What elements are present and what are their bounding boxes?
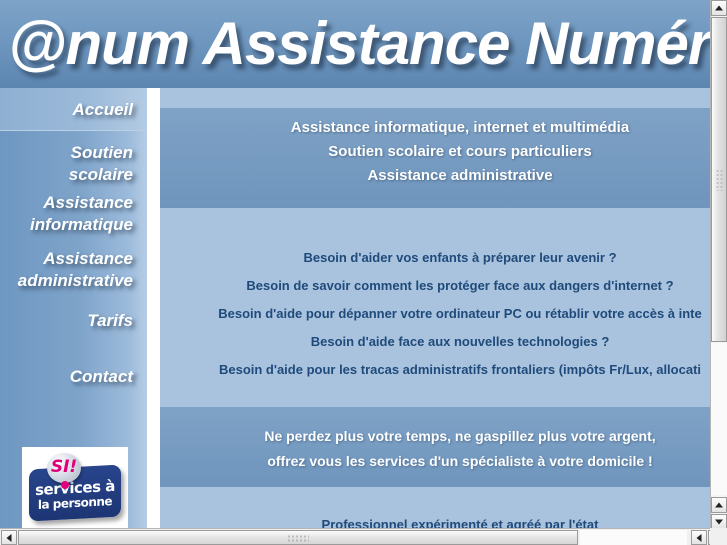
scroll-left-button-secondary[interactable] bbox=[691, 530, 707, 545]
site-title: @num Assistance Numéri bbox=[8, 2, 710, 86]
page-viewport: @num Assistance Numéri Accueil Soutien s… bbox=[0, 0, 710, 531]
vertical-scroll-track-lower[interactable] bbox=[711, 343, 727, 495]
cta-line-2: offrez vous les services d'un spécialist… bbox=[160, 449, 710, 474]
scrollbar-corner bbox=[710, 528, 727, 545]
question-5: Besoin d'aide pour les tracas administra… bbox=[160, 356, 710, 384]
vertical-scrollbar[interactable] bbox=[710, 0, 727, 531]
questions-panel: Besoin d'aider vos enfants à préparer le… bbox=[160, 208, 710, 405]
horizontal-scrollbar[interactable] bbox=[0, 528, 727, 545]
sidebar-item-tarifs[interactable]: Tarifs bbox=[0, 299, 147, 355]
sidebar-item-accueil[interactable]: Accueil bbox=[0, 88, 147, 131]
chevron-up-icon bbox=[715, 6, 723, 11]
call-to-action-panel: Ne perdez plus votre temps, ne gaspillez… bbox=[160, 407, 710, 487]
sidebar-item-assistance-informatique[interactable]: Assistance informatique bbox=[0, 187, 147, 243]
browser-page: @num Assistance Numéri Accueil Soutien s… bbox=[0, 0, 727, 545]
scroll-up-button[interactable] bbox=[711, 0, 727, 16]
intro-line-1: Assistance informatique, internet et mul… bbox=[160, 116, 710, 140]
scroll-left-button[interactable] bbox=[1, 530, 17, 545]
intro-line-2: Soutien scolaire et cours particuliers bbox=[160, 140, 710, 164]
question-1: Besoin d'aider vos enfants à préparer le… bbox=[160, 244, 710, 272]
grip-icon bbox=[716, 169, 723, 191]
footnote-panel: Professionnel expérimenté et agréé par l… bbox=[160, 487, 710, 531]
chevron-left-icon bbox=[697, 534, 702, 542]
sidebar-item-assistance-administrative[interactable]: Assistance administrative bbox=[0, 243, 147, 299]
question-2: Besoin de savoir comment les protéger fa… bbox=[160, 272, 710, 300]
intro-line-3: Assistance administrative bbox=[160, 164, 710, 188]
question-3: Besoin d'aide pour dépanner votre ordina… bbox=[160, 300, 710, 328]
logo-bubble-label: SI! bbox=[47, 457, 81, 477]
horizontal-scroll-track[interactable] bbox=[580, 530, 687, 545]
sidebar-item-contact[interactable]: Contact bbox=[0, 355, 147, 405]
services-a-la-personne-logo: services à la personne SI! bbox=[22, 447, 128, 528]
chevron-up-icon bbox=[715, 503, 723, 508]
sidebar-item-soutien-scolaire[interactable]: Soutien scolaire bbox=[0, 131, 147, 187]
logo-bubble-icon: SI! bbox=[47, 453, 81, 483]
intro-panel: Assistance informatique, internet et mul… bbox=[160, 108, 710, 208]
scroll-up-button-secondary[interactable] bbox=[711, 497, 727, 513]
question-4: Besoin d'aide face aux nouvelles technol… bbox=[160, 328, 710, 356]
main-content: Assistance informatique, internet et mul… bbox=[160, 88, 710, 531]
chevron-left-icon bbox=[7, 534, 12, 542]
sidebar: Accueil Soutien scolaire Assistance info… bbox=[0, 88, 147, 531]
grip-icon bbox=[287, 534, 309, 541]
cta-line-1: Ne perdez plus votre temps, ne gaspillez… bbox=[160, 424, 710, 449]
sidebar-nav: Accueil Soutien scolaire Assistance info… bbox=[0, 88, 147, 405]
horizontal-scroll-thumb[interactable] bbox=[18, 530, 578, 545]
chevron-down-icon bbox=[715, 520, 723, 525]
vertical-scroll-thumb[interactable] bbox=[711, 17, 727, 342]
logo-dot-icon bbox=[61, 481, 69, 489]
site-header: @num Assistance Numéri bbox=[0, 0, 710, 88]
